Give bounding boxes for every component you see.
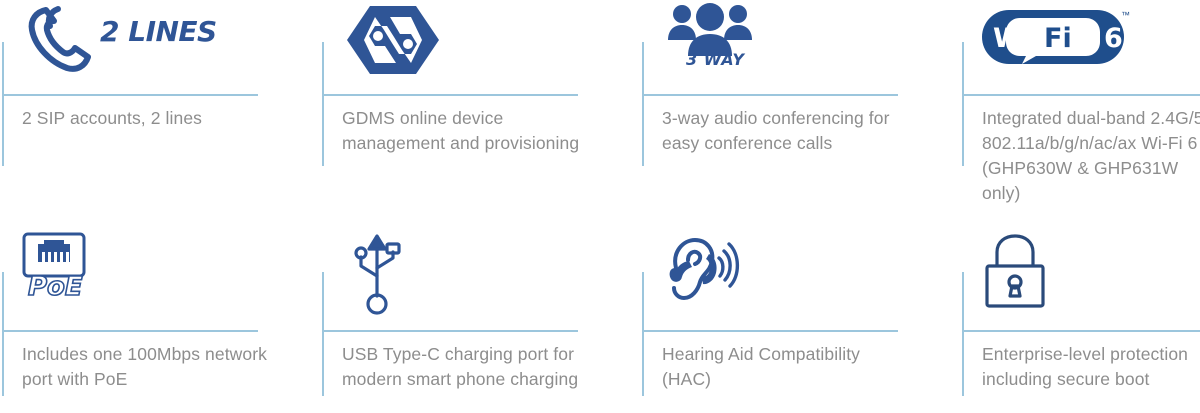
cell-vertical-rule (322, 272, 324, 396)
cell-vertical-rule (2, 42, 4, 166)
feature-grid: 2 LINES 2 SIP accounts, 2 lines GDMS onl… (0, 0, 1200, 413)
gdms-hexagon-logo-icon (342, 0, 444, 80)
two-lines-badge-label: 2 LINES (100, 15, 217, 48)
cell-horizontal-rule (2, 330, 258, 332)
cell-vertical-rule (962, 42, 964, 166)
poe-badge: PoE (22, 232, 112, 312)
feature-caption: Integrated dual-band 2.4G/5G 802.11a/b/g… (982, 106, 1200, 206)
icon-slot (982, 232, 1048, 322)
feature-caption: 3-way audio conferencing for easy confer… (662, 106, 914, 156)
cell-horizontal-rule (962, 330, 1200, 332)
wifi-6-badge: Wi Fi 6 ™ (982, 10, 1130, 70)
cell-vertical-rule (322, 42, 324, 166)
feature-cell-three-way: 3 WAY 3-way audio conferencing for easy … (640, 0, 960, 220)
feature-cell-hac: Hearing Aid Compatibility (HAC) (640, 220, 960, 413)
cell-horizontal-rule (322, 330, 578, 332)
feature-caption: GDMS online device management and provis… (342, 106, 594, 156)
icon-slot (662, 232, 740, 322)
usb-trident-icon (342, 232, 412, 318)
cell-vertical-rule (962, 272, 964, 396)
three-way-badge: 3 WAY (662, 0, 762, 80)
feature-cell-wifi6: Wi Fi 6 ™ Integrated dual-band 2.4G/5G 8… (960, 0, 1200, 220)
cell-horizontal-rule (642, 94, 898, 96)
feature-cell-poe: PoE Includes one 100Mbps network port wi… (0, 220, 320, 413)
padlock-icon (982, 232, 1048, 312)
cell-horizontal-rule (2, 94, 258, 96)
feature-caption: USB Type-C charging port for modern smar… (342, 342, 594, 392)
feature-cell-two-lines: 2 LINES 2 SIP accounts, 2 lines (0, 0, 320, 220)
wifi-6-logo-icon: Wi Fi 6 (982, 10, 1130, 64)
trademark-icon: ™ (1121, 10, 1130, 20)
poe-badge-label: PoE (28, 272, 83, 302)
feature-caption: Hearing Aid Compatibility (HAC) (662, 342, 914, 392)
cell-horizontal-rule (642, 330, 898, 332)
cell-vertical-rule (642, 42, 644, 166)
feature-cell-usb-type-c: USB Type-C charging port for modern smar… (320, 220, 640, 413)
feature-caption: Enterprise-level protection including se… (982, 342, 1200, 392)
icon-slot: Wi Fi 6 ™ (982, 0, 1130, 86)
svg-text:Fi: Fi (1044, 23, 1072, 54)
feature-cell-gdms: GDMS online device management and provis… (320, 0, 640, 220)
icon-slot: 2 LINES (22, 0, 217, 86)
icon-slot: PoE (22, 232, 112, 322)
svg-text:Wi: Wi (993, 23, 1032, 54)
feature-caption: 2 SIP accounts, 2 lines (22, 106, 274, 131)
icon-slot (342, 232, 412, 322)
svg-text:6: 6 (1104, 23, 1123, 54)
cell-vertical-rule (642, 272, 644, 396)
feature-caption: Includes one 100Mbps network port with P… (22, 342, 274, 392)
ear-hearing-aid-icon (662, 232, 740, 310)
feature-cell-secure-boot: Enterprise-level protection including se… (960, 220, 1200, 413)
three-way-badge-label: 3 WAY (686, 50, 744, 69)
cell-horizontal-rule (962, 94, 1200, 96)
icon-slot: 3 WAY (662, 0, 762, 86)
icon-slot (342, 0, 444, 86)
cell-vertical-rule (2, 272, 4, 396)
cell-horizontal-rule (322, 94, 578, 96)
two-lines-badge: 2 LINES (22, 0, 217, 80)
phone-handset-2-lines-icon (22, 0, 108, 80)
